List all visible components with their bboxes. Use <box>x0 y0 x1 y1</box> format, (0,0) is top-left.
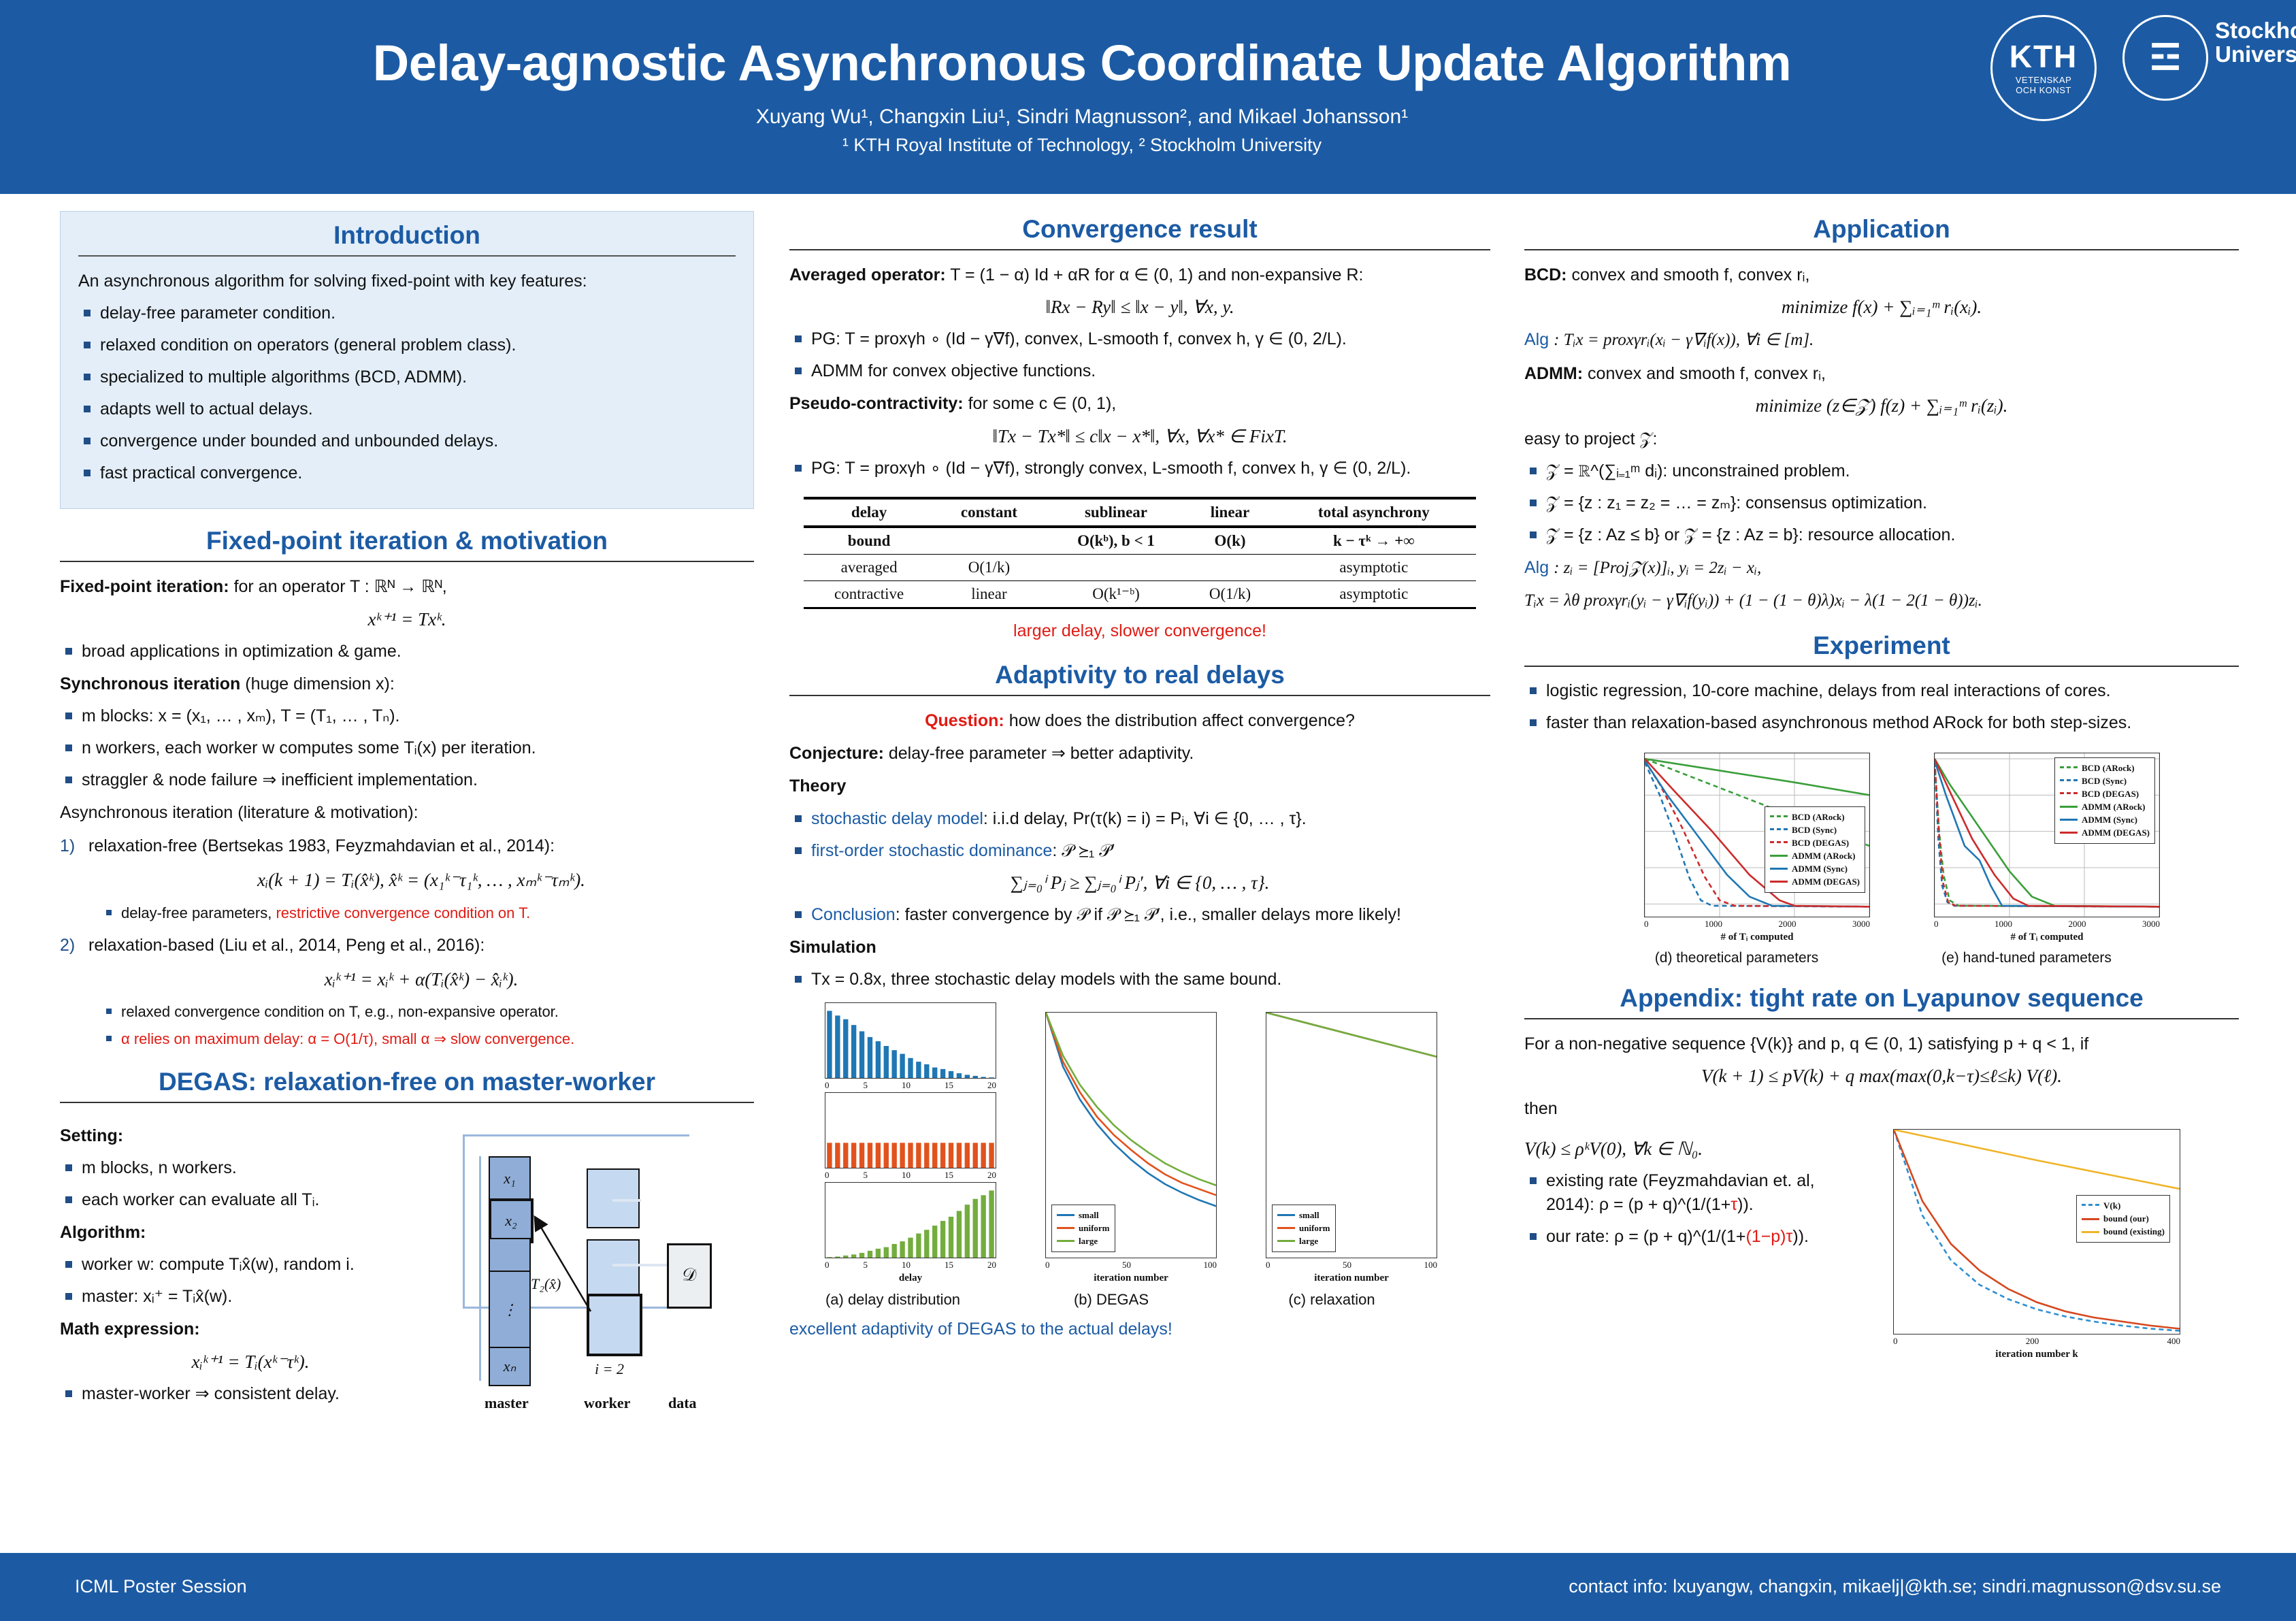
degas-algorithm-label: Algorithm: <box>60 1220 441 1245</box>
degas-math-bullets: master-worker ⇒ consistent delay. <box>60 1382 441 1406</box>
footer-contact: contact info: lxuyangw, changxin, mikael… <box>1569 1576 2221 1597</box>
legend-label: BCD (ARock) <box>1792 812 1845 823</box>
conclusion-rest: : faster convergence by 𝒫 if 𝒫 ⪰₁ 𝒫′, i.… <box>896 905 1401 924</box>
list-item: relaxed convergence condition on T, e.g.… <box>88 1002 754 1023</box>
rate-red: τ <box>1731 1195 1737 1214</box>
equation-admm: minimize (z∈𝒵) f(z) + ∑ᵢ₌₁ᵐ rᵢ(zᵢ). <box>1524 395 2239 417</box>
section-introduction: Introduction An asynchronous algorithm f… <box>60 211 754 509</box>
axis-tick-y: 0.6 <box>1934 825 1935 836</box>
project-label: easy to project 𝒵: <box>1524 427 2239 451</box>
col-header-linear: linear <box>1189 498 1271 527</box>
cell <box>1189 554 1271 580</box>
list-item: n workers, each worker w computes some T… <box>60 736 754 760</box>
fixedpoint-lead1: Fixed-point iteration: for an operator T… <box>60 574 754 599</box>
axis-tick-x: 100 <box>1204 1260 1217 1271</box>
axis-label-x-lyap: iteration number k <box>1893 1349 2180 1360</box>
adaptivity-note: excellent adaptivity of DEGAS to the act… <box>789 1317 1490 1341</box>
author-list: Xuyang Wu¹, Changxin Liu¹, Sindri Magnus… <box>299 105 1865 129</box>
legend-swatch <box>1277 1240 1295 1242</box>
axis-tick-x: 15 <box>945 1080 953 1091</box>
admm-alg-label: Alg <box>1524 558 1549 577</box>
axis-tick-y: 0.1 <box>825 1200 825 1211</box>
list-item: fast practical convergence. <box>78 461 736 485</box>
chart-legend: BCD (ARock)BCD (Sync)BCD (DEGAS)ADMM (AR… <box>1765 806 1865 893</box>
axis-tick-x: 10 <box>902 1260 911 1271</box>
cell <box>1043 554 1189 580</box>
appendix-bullets: existing rate (Feyzmahdavian et. al, 201… <box>1524 1169 1851 1249</box>
legend-item: BCD (ARock) <box>1770 812 1860 823</box>
rate-plain: our rate: ρ = (p + q)^(1/(1+ <box>1546 1227 1745 1246</box>
list-item: m blocks: x = (x₁, … , xₘ), T = (T₁, … ,… <box>60 704 754 728</box>
section-title-degas: DEGAS: relaxation-free on master-worker <box>60 1068 754 1096</box>
conjecture-rest: delay-free parameter ⇒ better adaptivity… <box>889 744 1194 763</box>
inner-brace <box>479 1156 481 1381</box>
master-block-x1: x₁ <box>489 1156 531 1201</box>
simulation-label: Simulation <box>789 935 1490 960</box>
legend-item: bound (existing) <box>2082 1226 2165 1237</box>
axis-tick-x: 10 <box>902 1170 911 1181</box>
axis-tick-x: 0 <box>1893 1336 1898 1347</box>
legend-item: bound (our) <box>2082 1213 2165 1224</box>
axis-tick-y: 0.4 <box>1893 1247 1894 1258</box>
legend-item: V(k) <box>2082 1200 2165 1211</box>
list-item: m blocks, n workers. <box>60 1156 441 1180</box>
cell: linear <box>935 580 1044 608</box>
degas-architecture-diagram: x₁ x₂ ⋮ xₙ 𝒟 T₂(x̂) i = 2 mas <box>450 1129 736 1422</box>
axis-tick-y: 0 <box>825 1073 825 1079</box>
list-item: 𝒵 = {z : z₁ = z₂ = … = zₘ}: consensus op… <box>1524 491 2239 515</box>
relaxation-based-sub: relaxed convergence condition on T, e.g.… <box>88 1002 754 1050</box>
table-header-row-2: bound O(kᵇ), b < 1 O(k) k − τᵏ → +∞ <box>804 527 1477 555</box>
figure-caption-a: (a) delay distribution <box>789 1291 996 1309</box>
legend-label: small <box>1079 1210 1099 1221</box>
axis-tick-y: 0 <box>1045 1252 1046 1258</box>
equation-fixed-point: xᵏ⁺¹ = Txᵏ. <box>60 609 754 630</box>
axis-tick-x: 2000 <box>2069 919 2086 930</box>
async-lead: Asynchronous iteration (literature & mot… <box>60 800 754 825</box>
admm-rest: convex and smooth f, convex rᵢ, <box>1588 364 1826 383</box>
equation-bcd: minimize f(x) + ∑ᵢ₌₁ᵐ rᵢ(xᵢ). <box>1524 297 2239 318</box>
axis-tick-x: 3000 <box>1852 919 1870 930</box>
axis-tick-y: 1 <box>1045 1012 1046 1018</box>
chart-legend: smalluniformlarge <box>1051 1205 1115 1252</box>
divider <box>60 1102 754 1103</box>
kth-logo: KTH VETENSKAPOCH KONST <box>1990 15 2099 121</box>
legend-item: ADMM (DEGAS) <box>2060 828 2150 838</box>
delay-distribution-panel: small 00.050.1 05101520 uniform 00.050.1… <box>789 1002 996 1309</box>
divider <box>1524 249 2239 250</box>
axis-tick-x: 15 <box>945 1260 953 1271</box>
section-title-appendix: Appendix: tight rate on Lyapunov sequenc… <box>1524 984 2239 1013</box>
axis-tick-y: 0.8 <box>1893 1165 1894 1176</box>
axis-ticks-x-large: 05101520 <box>825 1260 996 1271</box>
legend-swatch <box>2082 1218 2099 1220</box>
chart-delay-small: small 00.050.1 <box>825 1002 996 1079</box>
worker-block-1 <box>587 1168 640 1228</box>
column-label-worker: worker <box>584 1394 630 1412</box>
table-head: delay constant sublinear linear total as… <box>804 498 1477 555</box>
introduction-lead: An asynchronous algorithm for solving fi… <box>78 269 736 293</box>
axis-tick-x: 1000 <box>1705 919 1722 930</box>
legend-swatch <box>2060 832 2078 834</box>
section-degas: DEGAS: relaxation-free on master-worker … <box>60 1068 754 1422</box>
question-rest: how does the distribution affect converg… <box>1009 711 1355 730</box>
legend-label: ADMM (ARock) <box>2082 802 2146 813</box>
axis-tick-y: 0.2 <box>1266 1203 1266 1214</box>
section-adaptivity: Adaptivity to real delays Question: how … <box>789 661 1490 1341</box>
chart-experiment-theoretical: objective value 0.20.40.60.81BCD (ARock)… <box>1644 753 1870 917</box>
equation-degas: xᵢᵏ⁺¹ = Tᵢ(xᵏ⁻τᵏ). <box>60 1352 441 1373</box>
axis-ticks-x-degas: 050100 <box>1045 1260 1217 1271</box>
legend-swatch <box>2060 806 2078 808</box>
poster-footer: ICML Poster Session contact info: lxuyan… <box>0 1553 2296 1621</box>
arrow-label: T₂(x̂) <box>531 1275 561 1293</box>
conjecture-label: Conjecture: <box>789 744 884 763</box>
col-header-constant: constant <box>935 498 1044 527</box>
legend-swatch <box>1277 1214 1295 1216</box>
convergence-note: larger delay, slower convergence! <box>789 619 1490 643</box>
axis-label-x-expe: # of Tᵢ computed <box>1934 932 2160 943</box>
legend-swatch <box>2060 766 2078 770</box>
admm-alg-line: Alg : zᵢ = [Proj𝒵(x)]ᵢ, yᵢ = 2zᵢ − xᵢ, <box>1524 555 2239 580</box>
axis-tick-y: 0.8 <box>1045 1056 1046 1067</box>
section-title-application: Application <box>1524 215 2239 244</box>
list-item: Conclusion: faster convergence by 𝒫 if 𝒫… <box>789 903 1490 927</box>
degas-body: Setting: m blocks, n workers. each worke… <box>60 1115 754 1422</box>
equation-lyapunov-rate: V(k) ≤ ρᵏV(0), ∀k ∈ ℕ₀. <box>1524 1139 1851 1160</box>
chart-legend: smalluniformlarge <box>1272 1205 1336 1252</box>
list-item-relaxation-based: relaxation-based (Liu et al., 2014, Peng… <box>60 934 754 1050</box>
cell: asymptotic <box>1271 580 1476 608</box>
divider <box>1524 666 2239 667</box>
section-title-convergence: Convergence result <box>789 215 1490 244</box>
divider <box>78 255 736 257</box>
list-item: worker w: compute Tᵢx̂(w), random i. <box>60 1253 441 1277</box>
legend-item: large <box>1057 1236 1110 1247</box>
figure-caption-c: (c) relaxation <box>1226 1291 1437 1309</box>
legend-swatch <box>2060 779 2078 783</box>
axis-tick-y: 1 <box>1934 753 1935 764</box>
legend-label: ADMM (Sync) <box>2082 815 2137 825</box>
theory-bullets: stochastic delay model: i.i.d delay, Pr(… <box>789 807 1490 863</box>
list-item: logistic regression, 10-core machine, de… <box>1524 679 2239 703</box>
list-item-relaxation-free: relaxation-free (Bertsekas 1983, Feyzmah… <box>60 834 754 924</box>
axis-tick-y: 0.1 <box>825 1110 825 1121</box>
legend-item: large <box>1277 1236 1330 1247</box>
affiliation-list: ¹ KTH Royal Institute of Technology, ² S… <box>299 135 1865 156</box>
list-item: Tx = 0.8x, three stochastic delay models… <box>789 968 1490 992</box>
axis-tick-x: 20 <box>987 1080 996 1091</box>
relaxation-based-label: relaxation-based (Liu et al., 2014, Peng… <box>88 936 485 955</box>
col-subheader-sublinear: O(kᵇ), b < 1 <box>1043 527 1189 555</box>
axis-tick-y: 0.4 <box>1045 1154 1046 1165</box>
divider <box>1524 1018 2239 1019</box>
divider <box>789 695 1490 696</box>
axis-tick-y: 1 <box>1266 1012 1266 1018</box>
legend-label: uniform <box>1079 1223 1110 1234</box>
legend-label: V(k) <box>2103 1200 2120 1211</box>
worker-block-3 <box>587 1294 642 1356</box>
adaptivity-conjecture: Conjecture: delay-free parameter ⇒ bette… <box>789 741 1490 766</box>
legend-swatch <box>1057 1227 1075 1229</box>
axis-tick-y: 0 <box>825 1162 825 1168</box>
chart-experiment-handtuned: objective value 0.20.40.60.81BCD (ARock)… <box>1934 753 2160 917</box>
legend-item: small <box>1277 1210 1330 1221</box>
axis-ticks-x-small: 05101520 <box>825 1080 996 1091</box>
appendix-then: then <box>1524 1096 2239 1121</box>
axis-tick-y: 1 <box>1644 753 1645 764</box>
su-seal-icon: ☲ <box>2122 15 2208 101</box>
chart-delay-large: large 00.050.1 <box>825 1182 996 1258</box>
axis-tick-y: 0 <box>1893 1328 1894 1335</box>
axis-ticks-x-expd: 0100020003000 <box>1644 919 1870 930</box>
legend-swatch <box>1770 815 1788 819</box>
section-title-fixed-point: Fixed-point iteration & motivation <box>60 527 754 555</box>
rate-tail: )). <box>1737 1195 1754 1214</box>
convergence-rate-table: delay constant sublinear linear total as… <box>804 497 1477 609</box>
section-experiment: Experiment logistic regression, 10-core … <box>1524 632 2239 966</box>
col-subheader-bound: bound <box>804 527 935 555</box>
legend-swatch <box>1770 868 1788 870</box>
list-item: faster than relaxation-based asynchronou… <box>1524 711 2239 735</box>
degas-convergence-panel: ‖x(k) − x*‖² 00.20.40.60.81smalluniforml… <box>1006 1012 1217 1309</box>
rate-red: (1−p)τ <box>1745 1227 1792 1246</box>
fixedpoint-lead2-rest: (huge dimension x): <box>245 674 395 693</box>
list-item: stochastic delay model: i.i.d delay, Pr(… <box>789 807 1490 831</box>
legend-swatch <box>1277 1227 1295 1229</box>
table-row: contractive linear O(k¹⁻ᵇ) O(1/k) asympt… <box>804 580 1477 608</box>
list-item: PG: T = proxγh ∘ (Id − γ∇f), convex, L-s… <box>789 327 1490 351</box>
kth-seal-icon: KTH VETENSKAPOCH KONST <box>1990 15 2097 121</box>
list-item: straggler & node failure ⇒ inefficient i… <box>60 768 754 792</box>
pseudo-label: Pseudo-contractivity: <box>789 394 964 413</box>
legend-swatch <box>1770 881 1788 883</box>
sub-red: restrictive convergence condition on T. <box>276 904 530 921</box>
cell: O(k¹⁻ᵇ) <box>1043 580 1189 608</box>
legend-item: ADMM (ARock) <box>2060 802 2150 813</box>
equation-nonexpansive: ‖Rx − Ry‖ ≤ ‖x − y‖, ∀x, y. <box>789 297 1490 318</box>
worker-block-2 <box>587 1239 640 1299</box>
bcd-line: BCD: convex and smooth f, convex rᵢ, <box>1524 263 2239 287</box>
equation-pseudo-contractivity: ‖Tx − Tx*‖ ≤ c‖x − x*‖, ∀x, ∀x* ∈ FixT. <box>789 426 1490 447</box>
bcd-label: BCD: <box>1524 265 1567 284</box>
legend-swatch <box>2082 1204 2099 1208</box>
axis-tick-y: 0.6 <box>1893 1206 1894 1217</box>
axis-tick-y: 0.2 <box>1045 1203 1046 1214</box>
degas-math-label: Math expression: <box>60 1317 441 1341</box>
legend-label: small <box>1299 1210 1319 1221</box>
legend-swatch <box>2060 819 2078 821</box>
conclusion-bullets: Conclusion: faster convergence by 𝒫 if 𝒫… <box>789 903 1490 927</box>
axis-ticks-x-uniform: 05101520 <box>825 1170 996 1181</box>
degas-algorithm-bullets: worker w: compute Tᵢx̂(w), random i. mas… <box>60 1253 441 1309</box>
axis-tick-y: 0.1 <box>825 1020 825 1031</box>
list-item: master: xᵢ⁺ = Tᵢx̂(w). <box>60 1285 441 1309</box>
cell: averaged <box>804 554 935 580</box>
chart-lyapunov-bounds: V(k) & its bound 00.20.40.60.81V(k)bound… <box>1893 1129 2180 1335</box>
axis-tick-x: 1000 <box>1995 919 2012 930</box>
axis-tick-x: 0 <box>825 1080 830 1091</box>
axis-tick-x: 20 <box>987 1170 996 1181</box>
bullet-blue: stochastic delay model <box>811 809 983 828</box>
axis-ticks-x-lyap: 0200400 <box>1893 1336 2180 1347</box>
equation-lyapunov-recursion: V(k + 1) ≤ pV(k) + q max(max(0,k−τ)≤ℓ≤k)… <box>1524 1066 2239 1087</box>
data-block: 𝒟 <box>667 1243 712 1309</box>
pseudo-rest: for some c ∈ (0, 1), <box>968 394 1117 413</box>
legend-item: small <box>1057 1210 1110 1221</box>
fixedpoint-bullets: broad applications in optimization & gam… <box>60 640 754 664</box>
table-body: averaged O(1/k) asymptotic contractive l… <box>804 554 1477 608</box>
bcd-rest: convex and smooth f, convex rᵢ, <box>1571 265 1809 284</box>
appendix-text: V(k) ≤ ρᵏV(0), ∀k ∈ ℕ₀. existing rate (F… <box>1524 1129 1851 1360</box>
legend-swatch <box>2060 792 2078 796</box>
legend-label: ADMM (DEGAS) <box>2082 828 2150 838</box>
legend-label: bound (existing) <box>2103 1226 2165 1237</box>
section-convergence: Convergence result Averaged operator: T … <box>789 215 1490 643</box>
axis-tick-x: 400 <box>2167 1336 2181 1347</box>
equation-relaxation-free: xᵢ(k + 1) = Tᵢ(x̂ᵏ), x̂ᵏ = (x₁ᵏ⁻τ₁ᵏ, … ,… <box>88 868 754 894</box>
legend-swatch <box>1057 1240 1075 1242</box>
figure-caption-d: (d) theoretical parameters <box>1603 950 1870 966</box>
axis-label-x-relax: iteration number <box>1266 1273 1437 1284</box>
rate-tail: )). <box>1792 1227 1809 1246</box>
legend-swatch <box>2082 1231 2099 1233</box>
worker-index-label: i = 2 <box>595 1360 624 1378</box>
axis-tick-y: 0 <box>1266 1252 1266 1258</box>
axis-tick-x: 5 <box>864 1080 868 1091</box>
section-appendix: Appendix: tight rate on Lyapunov sequenc… <box>1524 984 2239 1361</box>
footer-session: ICML Poster Session <box>75 1576 247 1597</box>
relaxation-free-label: relaxation-free (Bertsekas 1983, Feyzmah… <box>88 836 555 855</box>
appendix-intro: For a non-negative sequence {V(k)} and p… <box>1524 1032 2239 1056</box>
legend-label: BCD (Sync) <box>1792 825 1837 836</box>
col-header-delay: delay <box>804 498 935 527</box>
axis-tick-x: 3000 <box>2142 919 2160 930</box>
kth-logo-subtext: VETENSKAPOCH KONST <box>2016 76 2072 96</box>
axis-tick-x: 5 <box>864 1260 868 1271</box>
axis-tick-y: 0.2 <box>1893 1288 1894 1298</box>
axis-tick-y: 0.8 <box>1266 1056 1266 1067</box>
section-application: Application BCD: convex and smooth f, co… <box>1524 215 2239 614</box>
axis-tick-y: 0.05 <box>825 1226 825 1237</box>
master-block-dots: ⋮ <box>489 1271 531 1349</box>
equation-relaxation-based: xᵢᵏ⁺¹ = xᵢᵏ + α(Tᵢ(x̂ᵏ) − x̂ᵢᵏ). <box>88 967 754 993</box>
experiment-bullets: logistic regression, 10-core machine, de… <box>1524 679 2239 735</box>
legend-item: ADMM (DEGAS) <box>1770 877 1860 887</box>
bcd-alg-rest: : Tᵢx = proxγrᵢ(xᵢ − γ∇ᵢf(x)), ∀i ∈ [m]. <box>1554 331 1814 349</box>
degas-setting-bullets: m blocks, n workers. each worker can eva… <box>60 1156 441 1212</box>
axis-ticks-x-expe: 0100020003000 <box>1934 919 2160 930</box>
axis-tick-y: 0.6 <box>1266 1105 1266 1116</box>
introduction-bullets: delay-free parameter condition. relaxed … <box>78 301 736 485</box>
equation-admm-operator: Tᵢx = λθ proxγrᵢ(yᵢ − γ∇ᵢf(yᵢ)) + (1 − (… <box>1524 589 2239 613</box>
column-left: Introduction An asynchronous algorithm f… <box>60 211 754 1439</box>
legend-label: uniform <box>1299 1223 1330 1234</box>
lyapunov-chart-panel: V(k) & its bound 00.20.40.60.81V(k)bound… <box>1858 1129 2180 1360</box>
axis-tick-x: 0 <box>1266 1260 1270 1271</box>
kth-logo-text: KTH <box>2010 41 2078 72</box>
legend-item: BCD (Sync) <box>1770 825 1860 836</box>
legend-item: uniform <box>1057 1223 1110 1234</box>
list-item: 𝒵 = {z : Az ≤ b} or 𝒵 = {z : Az = b}: re… <box>1524 523 2239 547</box>
list-item: adapts well to actual delays. <box>78 397 736 421</box>
legend-swatch <box>1770 841 1788 845</box>
list-item: each worker can evaluate all Tᵢ. <box>60 1188 441 1212</box>
averaged-operator-line: Averaged operator: T = (1 − α) Id + αR f… <box>789 263 1490 287</box>
chart-legend: BCD (ARock)BCD (Sync)BCD (DEGAS)ADMM (AR… <box>2054 757 2155 844</box>
col-header-sublinear: sublinear <box>1043 498 1189 527</box>
pseudo-contractivity-line: Pseudo-contractivity: for some c ∈ (0, 1… <box>789 391 1490 416</box>
poster-header: Delay-agnostic Asynchronous Coordinate U… <box>0 0 2296 194</box>
legend-swatch <box>1770 855 1788 857</box>
list-item: broad applications in optimization & gam… <box>60 640 754 664</box>
axis-label-x-degas: iteration number <box>1045 1273 1217 1284</box>
legend-item: uniform <box>1277 1223 1330 1234</box>
legend-item: BCD (ARock) <box>2060 763 2150 774</box>
chart-delay-uniform: uniform 00.050.1 <box>825 1092 996 1168</box>
admm-alg-rest: : zᵢ = [Proj𝒵(x)]ᵢ, yᵢ = 2zᵢ − xᵢ, <box>1554 559 1761 577</box>
col-subheader-total: k − τᵏ → +∞ <box>1271 527 1476 555</box>
logo-group: KTH VETENSKAPOCH KONST ☲ StockholmUniver… <box>1990 15 2259 121</box>
fixedpoint-lead2: Synchronous iteration (huge dimension x)… <box>60 672 754 696</box>
list-item: specialized to multiple algorithms (BCD,… <box>78 365 736 389</box>
master-block-x2: x₂ <box>489 1198 534 1243</box>
axis-tick-x: 0 <box>1934 919 1939 930</box>
list-item: delay-free parameter condition. <box>78 301 736 325</box>
relaxation-free-sub: delay-free parameters, restrictive conve… <box>88 903 754 924</box>
bullet-blue: first-order stochastic dominance <box>811 841 1052 860</box>
list-item: first-order stochastic dominance: 𝒫 ⪰₁ 𝒫… <box>789 839 1490 863</box>
legend-swatch <box>1057 1214 1075 1216</box>
admm-line: ADMM: convex and smooth f, convex rᵢ, <box>1524 361 2239 386</box>
col-subheader-constant <box>935 527 1044 555</box>
figure-caption-e: (e) hand-tuned parameters <box>1893 950 2160 966</box>
list-item: master-worker ⇒ consistent delay. <box>60 1382 441 1406</box>
axis-tick-x: 50 <box>1122 1260 1131 1271</box>
legend-swatch <box>1770 828 1788 832</box>
simulation-bullets: Tx = 0.8x, three stochastic delay models… <box>789 968 1490 992</box>
cell: O(1/k) <box>1189 580 1271 608</box>
axis-tick-y: 0.05 <box>825 1046 825 1057</box>
divider <box>789 249 1490 250</box>
cell: O(1/k) <box>935 554 1044 580</box>
axis-tick-x: 200 <box>2026 1336 2039 1347</box>
axis-tick-y: 0.05 <box>825 1136 825 1147</box>
axis-tick-x: 15 <box>945 1170 953 1181</box>
table-row: averaged O(1/k) asymptotic <box>804 554 1477 580</box>
chart-relaxation-convergence: ‖x(k) − x*‖² 00.20.40.60.81smalluniforml… <box>1266 1012 1437 1258</box>
section-title-introduction: Introduction <box>78 221 736 250</box>
legend-label: ADMM (ARock) <box>1792 851 1856 862</box>
axis-label-x-expd: # of Tᵢ computed <box>1644 932 1870 943</box>
chart-degas-convergence: ‖x(k) − x*‖² 00.20.40.60.81smalluniforml… <box>1045 1012 1217 1258</box>
sync-bullets: m blocks: x = (x₁, … , xₘ), T = (T₁, … ,… <box>60 704 754 792</box>
axis-tick-y: 0.2 <box>1644 898 1645 909</box>
legend-item: ADMM (Sync) <box>2060 815 2150 825</box>
project-bullets: 𝒵 = ℝ^(∑ᵢ₌₁ᵐ dᵢ): unconstrained problem.… <box>1524 459 2239 547</box>
axis-tick-x: 0 <box>1644 919 1649 930</box>
experiment-theoretical-panel: objective value 0.20.40.60.81BCD (ARock)… <box>1603 753 1870 966</box>
legend-item: BCD (Sync) <box>2060 776 2150 787</box>
axis-tick-x: 0 <box>1045 1260 1050 1271</box>
axis-tick-x: 100 <box>1424 1260 1438 1271</box>
experiment-handtuned-panel: objective value 0.20.40.60.81BCD (ARock)… <box>1893 753 2160 966</box>
cell: asymptotic <box>1271 554 1476 580</box>
axis-tick-y: 0.4 <box>1934 862 1935 873</box>
list-item: convergence under bounded and unbounded … <box>78 429 736 453</box>
list-item: relaxed condition on operators (general … <box>78 333 736 357</box>
bullet-rest: : 𝒫 ⪰₁ 𝒫′ <box>1052 841 1115 860</box>
